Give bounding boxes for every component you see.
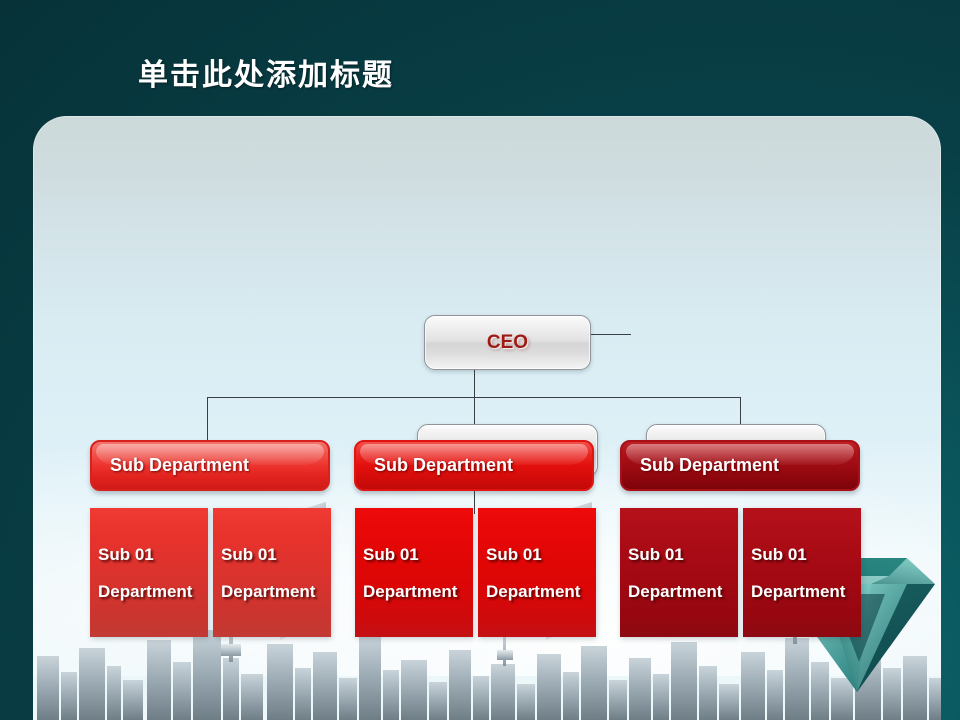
card-2-2-line2: Department xyxy=(486,583,596,600)
card-3-1-line1: Sub 01 xyxy=(628,546,738,563)
card-1-2-line2: Department xyxy=(221,583,331,600)
card-1-2-line1: Sub 01 xyxy=(221,546,331,563)
branch-header-2[interactable]: Sub Department xyxy=(354,440,594,491)
page-title[interactable]: 单击此处添加标题 xyxy=(138,50,394,94)
card-3-2-line2: Department xyxy=(751,583,861,600)
card-3-1-line2: Department xyxy=(628,583,738,600)
card-2-1-line1: Sub 01 xyxy=(363,546,473,563)
content-panel: CEO DepartmentDepartment Sub Department xyxy=(33,116,941,720)
node-ceo[interactable]: CEO xyxy=(424,315,591,370)
card-1-1-line2: Department xyxy=(98,583,208,600)
branch-header-1-label: Sub Department xyxy=(110,455,249,476)
card-3-2-line1: Sub 01 xyxy=(751,546,861,563)
card-3-1[interactable]: Sub 01 Department xyxy=(620,508,738,637)
card-1-1[interactable]: Sub 01 Department xyxy=(90,508,208,637)
branch-header-1[interactable]: Sub Department xyxy=(90,440,330,491)
node-ceo-label: CEO xyxy=(487,332,528,354)
card-1-1-line1: Sub 01 xyxy=(98,546,208,563)
branch-header-3-label: Sub Department xyxy=(640,455,779,476)
connector-branch-drop-1 xyxy=(207,397,208,440)
branch-header-2-label: Sub Department xyxy=(374,455,513,476)
card-1-2[interactable]: Sub 01 Department xyxy=(213,508,331,637)
card-3-2[interactable]: Sub 01 Department xyxy=(743,508,861,637)
card-2-2-line1: Sub 01 xyxy=(486,546,596,563)
card-2-1-line2: Department xyxy=(363,583,473,600)
card-2-1[interactable]: Sub 01 Department xyxy=(355,508,473,637)
branch-header-3[interactable]: Sub Department xyxy=(620,440,860,491)
card-2-2[interactable]: Sub 01 Department xyxy=(478,508,596,637)
slide-canvas: 单击此处添加标题 xyxy=(0,0,960,720)
